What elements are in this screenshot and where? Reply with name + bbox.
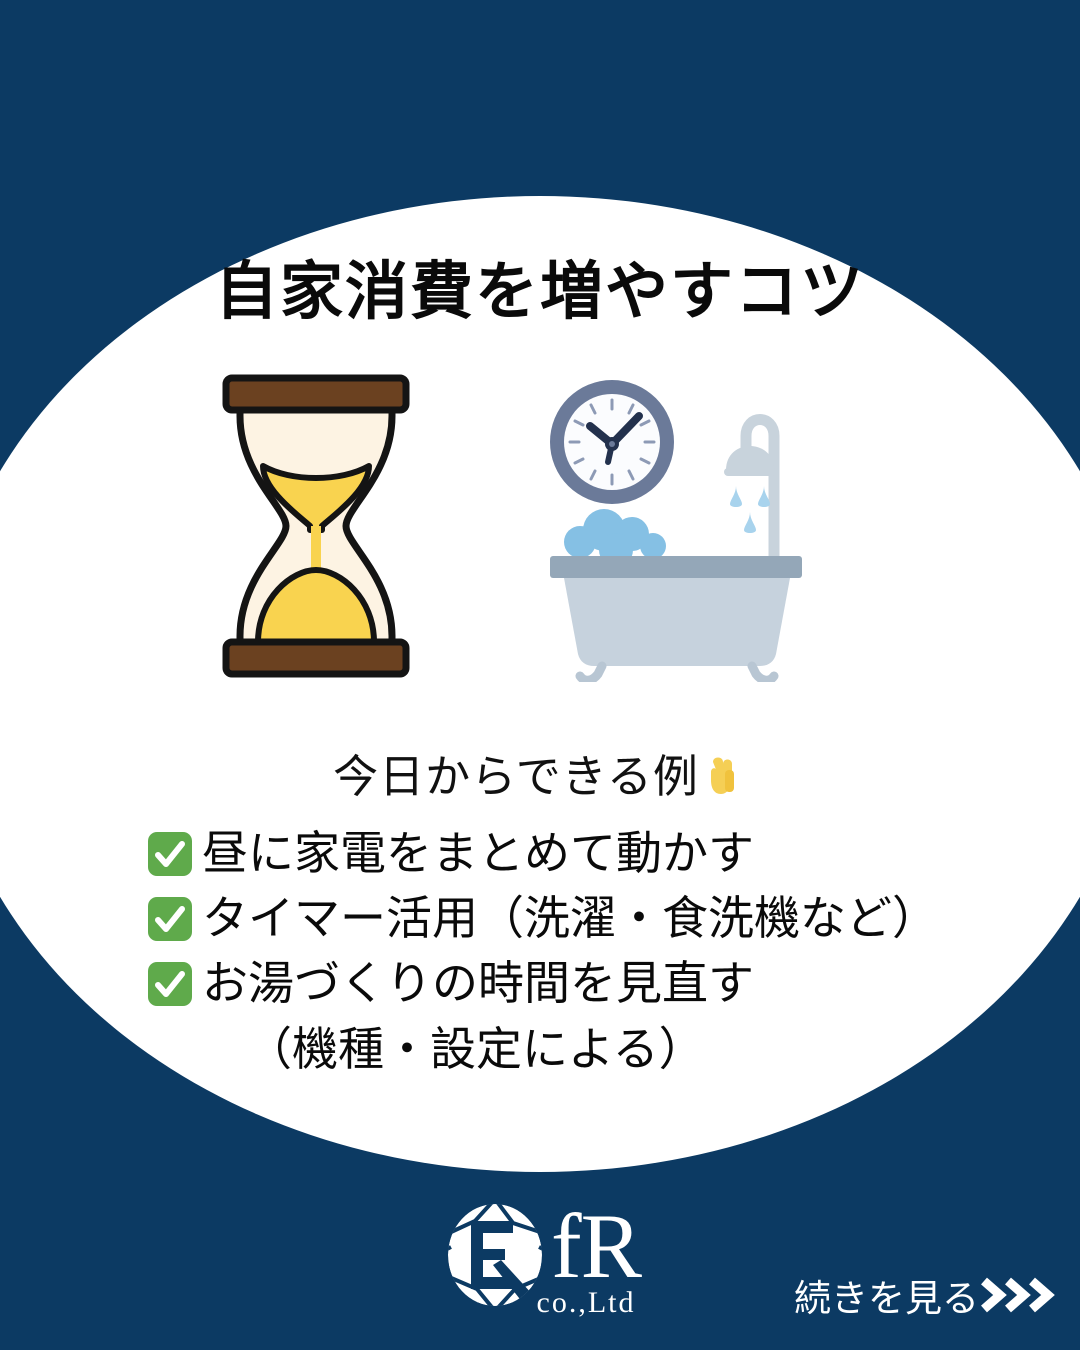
list-item-label: タイマー活用（洗濯・食洗機など） [202,888,938,949]
list-item: タイマー活用（洗濯・食洗機など） [148,888,1028,949]
check-mark-icon [148,832,192,876]
bathtub-icon [550,556,802,680]
list-item: 昼に家電をまとめて動かす [148,823,1028,884]
list-item: お湯づくりの時間を見直す [148,953,1028,1014]
brand-wordmark: fR [551,1203,641,1290]
subheading: 今日からできる例 [0,740,1080,809]
illustration-band [0,370,1080,690]
triple-chevron-right-icon [980,1275,1058,1315]
checklist: 昼に家電をまとめて動かす タイマー活用（洗濯・食洗機など） お湯づくりの時間を見… [148,823,1028,1080]
see-more-label: 続きを見る [794,1268,979,1322]
subheading-text: 今日からできる例 [333,752,699,802]
point-down-icon [701,752,747,809]
hourglass-icon [196,370,436,682]
see-more-cta[interactable]: 続きを見る [794,1268,1058,1322]
check-mark-icon [148,897,192,941]
bath-scene [540,370,860,682]
page-title: 自家消費を増やすコツ [0,256,1080,328]
list-item-label: 昼に家電をまとめて動かす [202,823,754,884]
wall-clock-icon [550,380,674,504]
shower-icon [724,420,776,563]
list-item-subnote: （機種・設定による） [246,1019,1028,1080]
list-item-label: お湯づくりの時間を見直す [202,953,754,1014]
post-canvas: 自家消費を増やすコツ [0,0,1080,1350]
check-mark-icon [148,962,192,1006]
